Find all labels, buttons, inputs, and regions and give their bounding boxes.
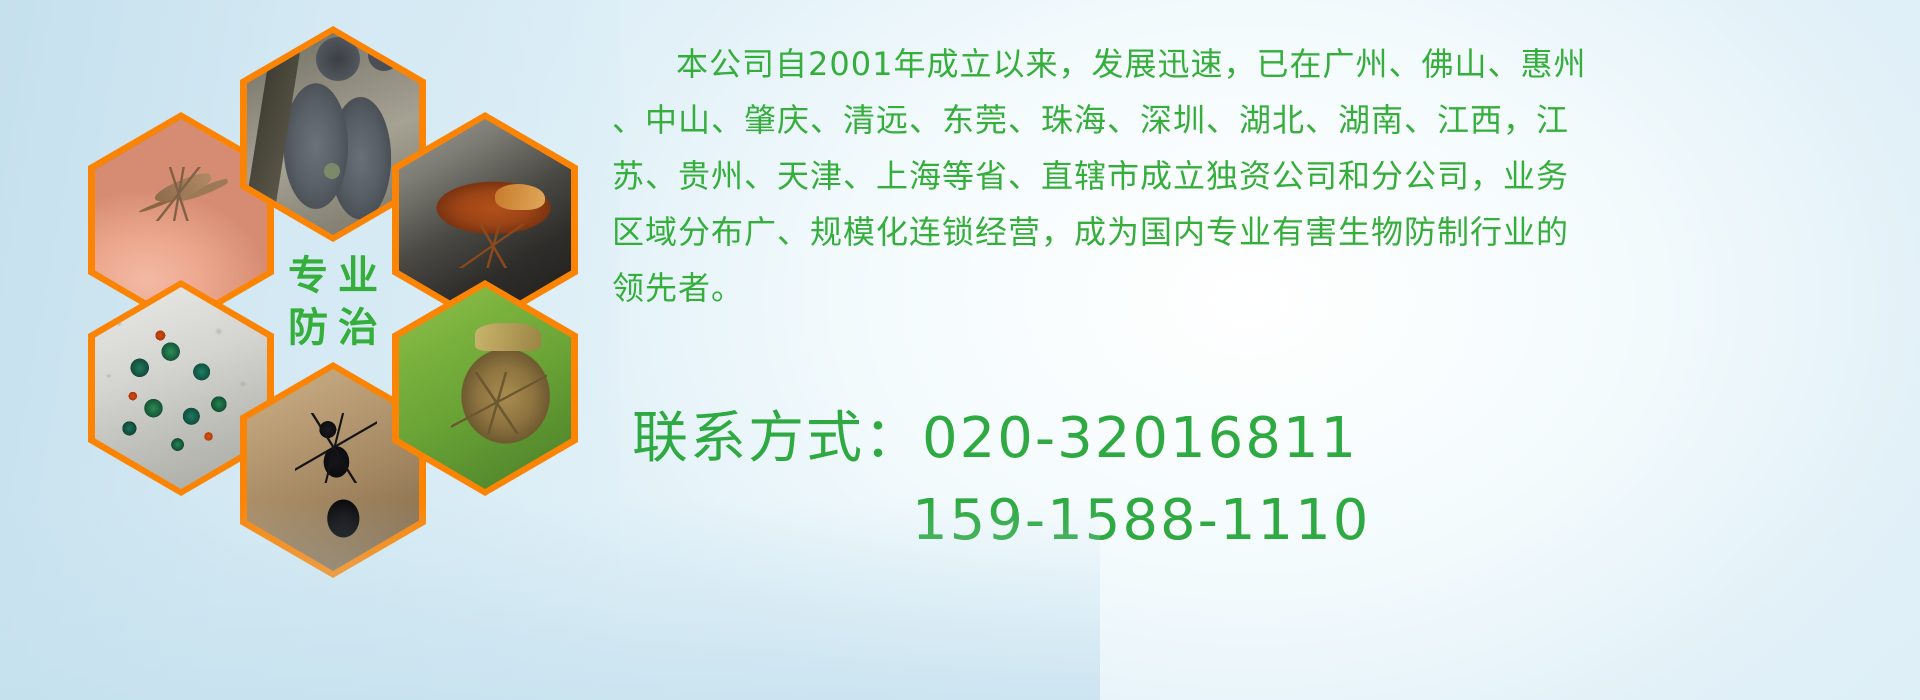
intro-line-3: 苏、贵州、天津、上海等省、直辖市成立独资公司和分公司，业务 [612, 148, 1902, 204]
hex-border: 专业 防治 [240, 194, 426, 410]
slogan-line-2: 防治 [278, 307, 388, 349]
intro-line-4: 区域分布广、规模化连锁经营，成为国内专业有害生物防制行业的 [612, 204, 1902, 260]
intro-line-5: 领先者。 [612, 260, 1902, 316]
slogan-line-1: 专业 [278, 255, 388, 297]
slogan-block: 专业 防治 [240, 194, 426, 410]
contact-block: 联系方式：020-32016811 159-1588-1110 [612, 398, 1902, 562]
intro-line-1: 本公司自2001年成立以来，发展迅速，已在广州、佛山、惠州 [612, 36, 1902, 92]
promo-banner: 专业 防治 本公司自2001年成立以来，发展迅速，已在广州、佛山、惠州 、中山、… [0, 0, 1920, 700]
intro-line-2: 、中山、肇庆、清远、东莞、珠海、深圳、湖北、湖南、江西，江 [612, 92, 1902, 148]
hex-slogan-center: 专业 防治 [240, 194, 426, 410]
company-intro-paragraph: 本公司自2001年成立以来，发展迅速，已在广州、佛山、惠州 、中山、肇庆、清远、… [612, 36, 1902, 316]
honeycomb-collage: 专业 防治 [88, 8, 588, 568]
contact-phone-mobile[interactable]: 159-1588-1110 [612, 480, 1902, 562]
contact-phone-landline[interactable]: 联系方式：020-32016811 [612, 398, 1902, 480]
